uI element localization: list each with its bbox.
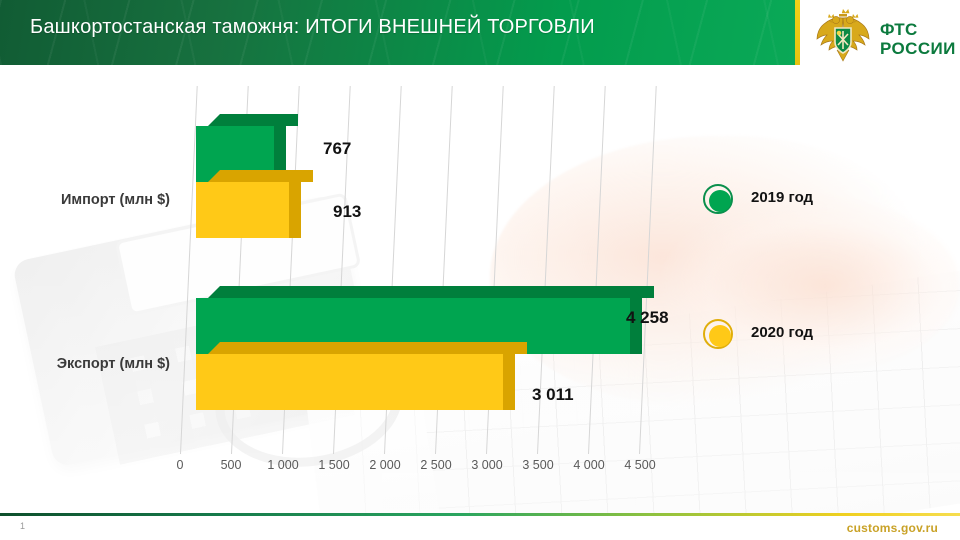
xtick-2500: 2 500 — [413, 458, 459, 472]
legend-label-2020: 2020 год — [751, 324, 813, 341]
value-label-export-2019: 4 258 — [626, 308, 669, 328]
slide-number: 1 — [20, 521, 25, 531]
legend-marker-2019-icon — [703, 184, 733, 214]
value-label-import-2020: 913 — [333, 202, 361, 222]
xtick-4000: 4 000 — [566, 458, 612, 472]
bar-chart: Импорт (млн $) Экспорт (млн $) 767 913 — [0, 76, 960, 486]
legend-item-2020[interactable]: 2020 год — [703, 319, 883, 353]
value-label-import-2019: 767 — [323, 139, 351, 159]
xtick-2000: 2 000 — [362, 458, 408, 472]
xtick-1000: 1 000 — [260, 458, 306, 472]
footer-divider — [0, 513, 960, 516]
fts-logo-line1: ФТС — [880, 20, 956, 39]
bar-export-2020 — [196, 354, 503, 410]
slide: Башкортостанская таможня: ИТОГИ ВНЕШНЕЙ … — [0, 0, 960, 540]
xtick-3000: 3 000 — [464, 458, 510, 472]
chart-gridlines — [0, 76, 960, 476]
value-label-export-2020: 3 011 — [532, 385, 574, 405]
legend-item-2019[interactable]: 2019 год — [703, 184, 883, 218]
legend-marker-2020-icon — [703, 319, 733, 349]
bar-import-2020 — [196, 182, 289, 238]
banner-accent-strip — [795, 0, 800, 65]
fts-logo-line2: РОССИИ — [880, 39, 956, 58]
legend-label-2019: 2019 год — [751, 189, 813, 206]
gridline-4500 — [639, 86, 657, 454]
fts-logo-text: ФТС РОССИИ — [880, 20, 956, 58]
xtick-1500: 1 500 — [311, 458, 357, 472]
xtick-0: 0 — [164, 458, 196, 472]
xtick-3500: 3 500 — [515, 458, 561, 472]
page-title: Башкортостанская таможня: ИТОГИ ВНЕШНЕЙ … — [30, 16, 595, 39]
xtick-500: 500 — [212, 458, 250, 472]
russia-coat-of-arms-eagle-icon — [812, 6, 874, 68]
fts-logo: ФТС РОССИИ — [812, 6, 952, 70]
category-label-import: Импорт (млн $) — [10, 192, 170, 208]
gridline-4000 — [588, 86, 606, 454]
footer-url[interactable]: customs.gov.ru — [847, 521, 938, 535]
xtick-4500: 4 500 — [617, 458, 663, 472]
category-label-export: Экспорт (млн $) — [10, 356, 170, 372]
